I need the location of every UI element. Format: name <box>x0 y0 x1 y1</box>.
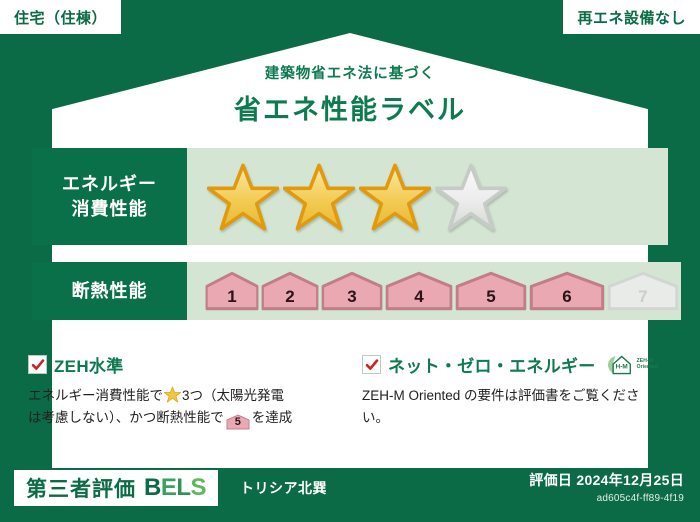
insulation-performance-label: 断熱性能 <box>32 262 187 320</box>
page-title: 省エネ性能ラベル <box>0 88 700 127</box>
bels-letter: E <box>161 474 177 501</box>
insulation-badge-7: 7 <box>607 271 679 311</box>
zeh-standard-heading: ZEH水準 <box>28 352 348 377</box>
insulation-grade-scale: 1234567 <box>187 262 681 320</box>
tag-building-type: 住宅（住棟） <box>0 0 121 34</box>
tag-renewable-energy: 再エネ設備なし <box>563 0 700 34</box>
evaluation-date-label: 評価日 <box>529 472 572 488</box>
evaluation-id: ad605c4f-ff89-4f19 <box>529 493 684 504</box>
zeh-desc-part2: 3つ（太陽光発電 <box>182 388 284 403</box>
insulation-badge-value: 3 <box>347 287 356 307</box>
insulation-badge-6: 6 <box>529 271 605 311</box>
insulation-badge-value: 4 <box>414 287 423 307</box>
energy-label-line1: エネルギー <box>62 172 157 196</box>
energy-star-rating <box>187 148 668 245</box>
insulation-badge-2: 2 <box>261 271 319 311</box>
zeh-house-icon: H-M <box>605 353 635 377</box>
zeh-standard-title: ZEH水準 <box>54 352 124 377</box>
net-zero-energy-block: ネット・ゼロ・エネルギー H-M ZEH-M Oriented ZEH-M Or… <box>362 352 662 429</box>
energy-performance-row: エネルギー 消費性能 <box>32 148 668 245</box>
insulation-badge-value: 7 <box>638 287 647 307</box>
insulation-badge-1: 1 <box>205 271 259 311</box>
inline-grade-value: 5 <box>235 416 241 430</box>
bels-energy-label: 住宅（住棟） 再エネ設備なし 建築物省エネ法に基づく 省エネ性能ラベル エネルギ… <box>0 0 700 522</box>
check-icon <box>362 355 381 374</box>
bels-letter: S <box>191 474 207 501</box>
insulation-badge-4: 4 <box>385 271 453 311</box>
star-filled-icon <box>283 162 355 232</box>
insulation-badge-value: 2 <box>285 287 294 307</box>
star-empty-icon <box>435 162 507 232</box>
svg-text:H-M: H-M <box>615 363 627 370</box>
bels-logo: BELS <box>144 474 206 502</box>
inline-star-icon <box>164 386 181 403</box>
zeh-desc-part1: エネルギー消費性能で <box>28 388 163 403</box>
evaluation-date: 評価日 2024年12月25日 <box>529 470 684 490</box>
bels-letter: B <box>144 474 161 501</box>
star-filled-icon <box>359 162 431 232</box>
zeh-desc-part4: を達成 <box>252 410 293 425</box>
insulation-performance-row: 断熱性能 1234567 <box>32 262 668 320</box>
insulation-label-text: 断熱性能 <box>72 279 148 303</box>
zeh-standard-description: エネルギー消費性能で3つ（太陽光発電 は考慮しない）、かつ断熱性能で5を達成 <box>28 385 348 430</box>
net-zero-energy-heading: ネット・ゼロ・エネルギー H-M ZEH-M Oriented <box>362 352 662 377</box>
property-name: トリシア北巽 <box>240 478 327 498</box>
title-block: 建築物省エネ法に基づく 省エネ性能ラベル <box>0 62 700 127</box>
bels-footer-plate: 第三者評価 BELS <box>14 470 218 506</box>
net-zero-energy-title: ネット・ゼロ・エネルギー <box>388 352 596 377</box>
insulation-badge-3: 3 <box>321 271 383 311</box>
star-filled-icon <box>207 162 279 232</box>
evaluation-meta: 評価日 2024年12月25日 ad605c4f-ff89-4f19 <box>529 470 684 504</box>
zeh-desc-part3: は考慮しない）、かつ断熱性能で <box>28 410 224 425</box>
tag-building-type-label: 住宅（住棟） <box>14 7 107 28</box>
zeh-m-oriented-logo: H-M ZEH-M Oriented <box>605 353 658 377</box>
evaluation-date-value: 2024年12月25日 <box>576 472 684 488</box>
zeh-standard-block: ZEH水準 エネルギー消費性能で3つ（太陽光発電 は考慮しない）、かつ断熱性能で… <box>28 352 348 430</box>
insulation-badge-value: 1 <box>227 287 236 307</box>
zeh-logo-line2: Oriented <box>637 364 658 370</box>
bels-letter: L <box>176 474 190 501</box>
insulation-badge-5: 5 <box>455 271 527 311</box>
tag-renewable-energy-label: 再エネ設備なし <box>577 7 686 28</box>
energy-label-line2: 消費性能 <box>72 197 148 221</box>
title-subtitle: 建築物省エネ法に基づく <box>0 62 700 83</box>
insulation-badge-list: 1234567 <box>205 271 681 311</box>
insulation-badge-value: 5 <box>486 287 495 307</box>
net-zero-energy-description: ZEH-M Oriented の要件は評価書をご覧ください。 <box>362 385 662 429</box>
zeh-logo-caption: ZEH-M Oriented <box>637 359 658 371</box>
third-party-eval-label: 第三者評価 <box>26 473 136 503</box>
inline-grade-badge: 5 <box>226 414 250 430</box>
energy-performance-label: エネルギー 消費性能 <box>32 148 187 245</box>
insulation-badge-value: 6 <box>562 287 571 307</box>
check-icon <box>28 355 47 374</box>
